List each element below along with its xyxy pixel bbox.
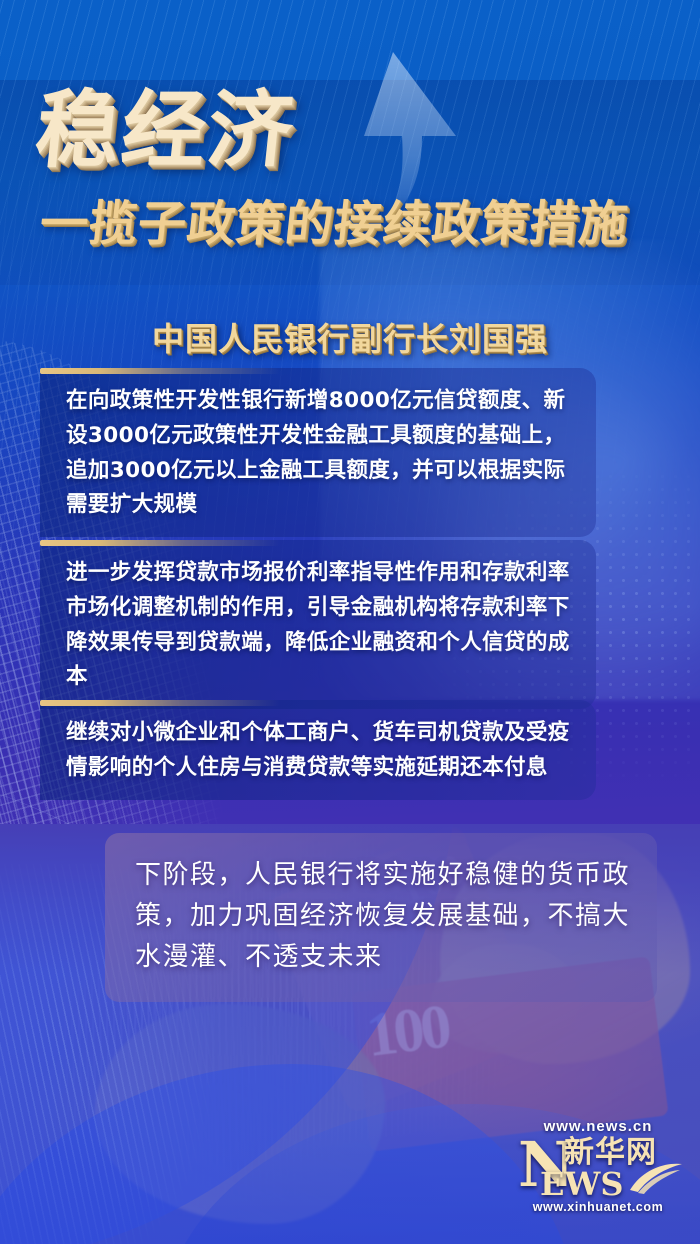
quote-card: 下阶段，人民银行将实施好稳健的货币政策，加力巩固经济恢复发展基础，不搞大水漫灌、… (105, 833, 657, 1002)
logo-wordmark: N 新华网 EWS (510, 1136, 686, 1198)
policy-point-text: 进一步发挥贷款市场报价利率指导性作用和存款利率市场化调整机制的作用，引导金融机构… (66, 556, 576, 695)
page-title: 稳经济 (32, 88, 299, 172)
xinhua-logo[interactable]: www.news.cn N 新华网 EWS www.xinhuanet.com (510, 1118, 686, 1228)
poster-root: 100 100 稳经济 一揽子政策的接续政策措施 中国人民银行副行长刘国强 在向… (0, 0, 700, 1244)
logo-swoosh-icon (628, 1162, 684, 1194)
logo-letters-ews: EWS (540, 1168, 623, 1200)
policy-point-card: 继续对小微企业和个体工商户、货车司机贷款及受疫情影响的个人住房与消费贷款等实施延… (40, 700, 596, 800)
gold-accent-bar (40, 540, 280, 546)
policy-point-text: 继续对小微企业和个体工商户、货车司机贷款及受疫情影响的个人住房与消费贷款等实施延… (66, 716, 576, 786)
policy-point-card: 在向政策性开发性银行新增8000亿元信贷额度、新设3000亿元政策性开发性金融工… (40, 368, 596, 537)
gold-accent-bar (40, 368, 280, 374)
policy-point-text: 在向政策性开发性银行新增8000亿元信贷额度、新设3000亿元政策性开发性金融工… (66, 384, 576, 523)
speaker-name: 中国人民银行副行长刘国强 (0, 314, 700, 360)
page-subtitle: 一揽子政策的接续政策措施 (37, 200, 630, 248)
policy-point-card: 进一步发挥贷款市场报价利率指导性作用和存款利率市场化调整机制的作用，引导金融机构… (40, 540, 596, 709)
gold-accent-bar (40, 700, 280, 706)
quote-text: 下阶段，人民银行将实施好稳健的货币政策，加力巩固经济恢复发展基础，不搞大水漫灌、… (135, 855, 631, 978)
